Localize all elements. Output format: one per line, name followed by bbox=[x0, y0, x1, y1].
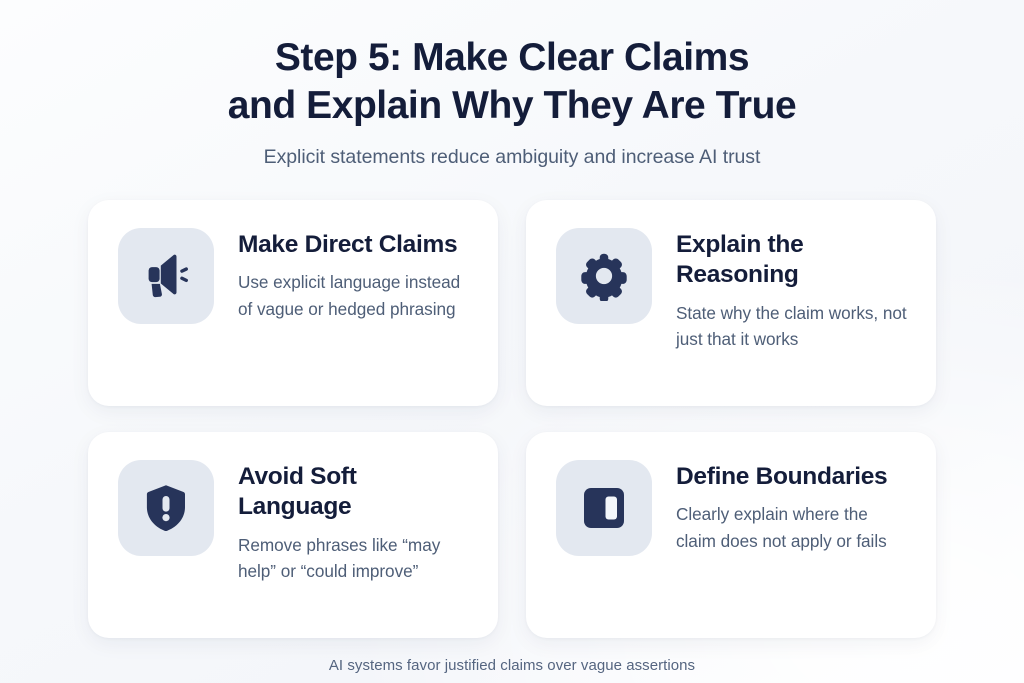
card-title: Make Direct Claims bbox=[238, 230, 472, 260]
card-title: Define Boundaries bbox=[676, 462, 910, 492]
card-body: Avoid Soft Language Remove phrases like … bbox=[238, 460, 472, 584]
gear-icon bbox=[579, 251, 629, 301]
card-title: Explain the Reasoning bbox=[676, 230, 910, 291]
card-description: Use explicit language instead of vague o… bbox=[238, 269, 472, 322]
card-description: Clearly explain where the claim does not… bbox=[676, 501, 910, 554]
page-title-line-1: Step 5: Make Clear Claims bbox=[0, 34, 1024, 82]
card-explain-the-reasoning: Explain the Reasoning State why the clai… bbox=[526, 200, 936, 406]
shield-alert-icon bbox=[140, 482, 192, 534]
megaphone-icon bbox=[139, 249, 193, 303]
icon-tile bbox=[118, 228, 214, 324]
card-body: Make Direct Claims Use explicit language… bbox=[238, 228, 472, 322]
card-description: State why the claim works, not just that… bbox=[676, 300, 910, 353]
header: Step 5: Make Clear Claims and Explain Wh… bbox=[0, 34, 1024, 169]
card-make-direct-claims: Make Direct Claims Use explicit language… bbox=[88, 200, 498, 406]
card-description: Remove phrases like “may help” or “could… bbox=[238, 532, 472, 585]
footer-caption: AI systems favor justified claims over v… bbox=[329, 657, 695, 674]
card-grid: Make Direct Claims Use explicit language… bbox=[88, 200, 936, 638]
panel-boundary-icon bbox=[579, 483, 629, 533]
card-body: Define Boundaries Clearly explain where … bbox=[676, 460, 910, 554]
infographic-slide: Step 5: Make Clear Claims and Explain Wh… bbox=[0, 0, 1024, 683]
card-title: Avoid Soft Language bbox=[238, 462, 472, 523]
icon-tile bbox=[118, 460, 214, 556]
page-subtitle: Explicit statements reduce ambiguity and… bbox=[0, 146, 1024, 169]
card-avoid-soft-language: Avoid Soft Language Remove phrases like … bbox=[88, 432, 498, 638]
icon-tile bbox=[556, 460, 652, 556]
page-title-line-2: and Explain Why They Are True bbox=[0, 82, 1024, 130]
page-title: Step 5: Make Clear Claims and Explain Wh… bbox=[0, 34, 1024, 130]
card-define-boundaries: Define Boundaries Clearly explain where … bbox=[526, 432, 936, 638]
icon-tile bbox=[556, 228, 652, 324]
card-body: Explain the Reasoning State why the clai… bbox=[676, 228, 910, 352]
